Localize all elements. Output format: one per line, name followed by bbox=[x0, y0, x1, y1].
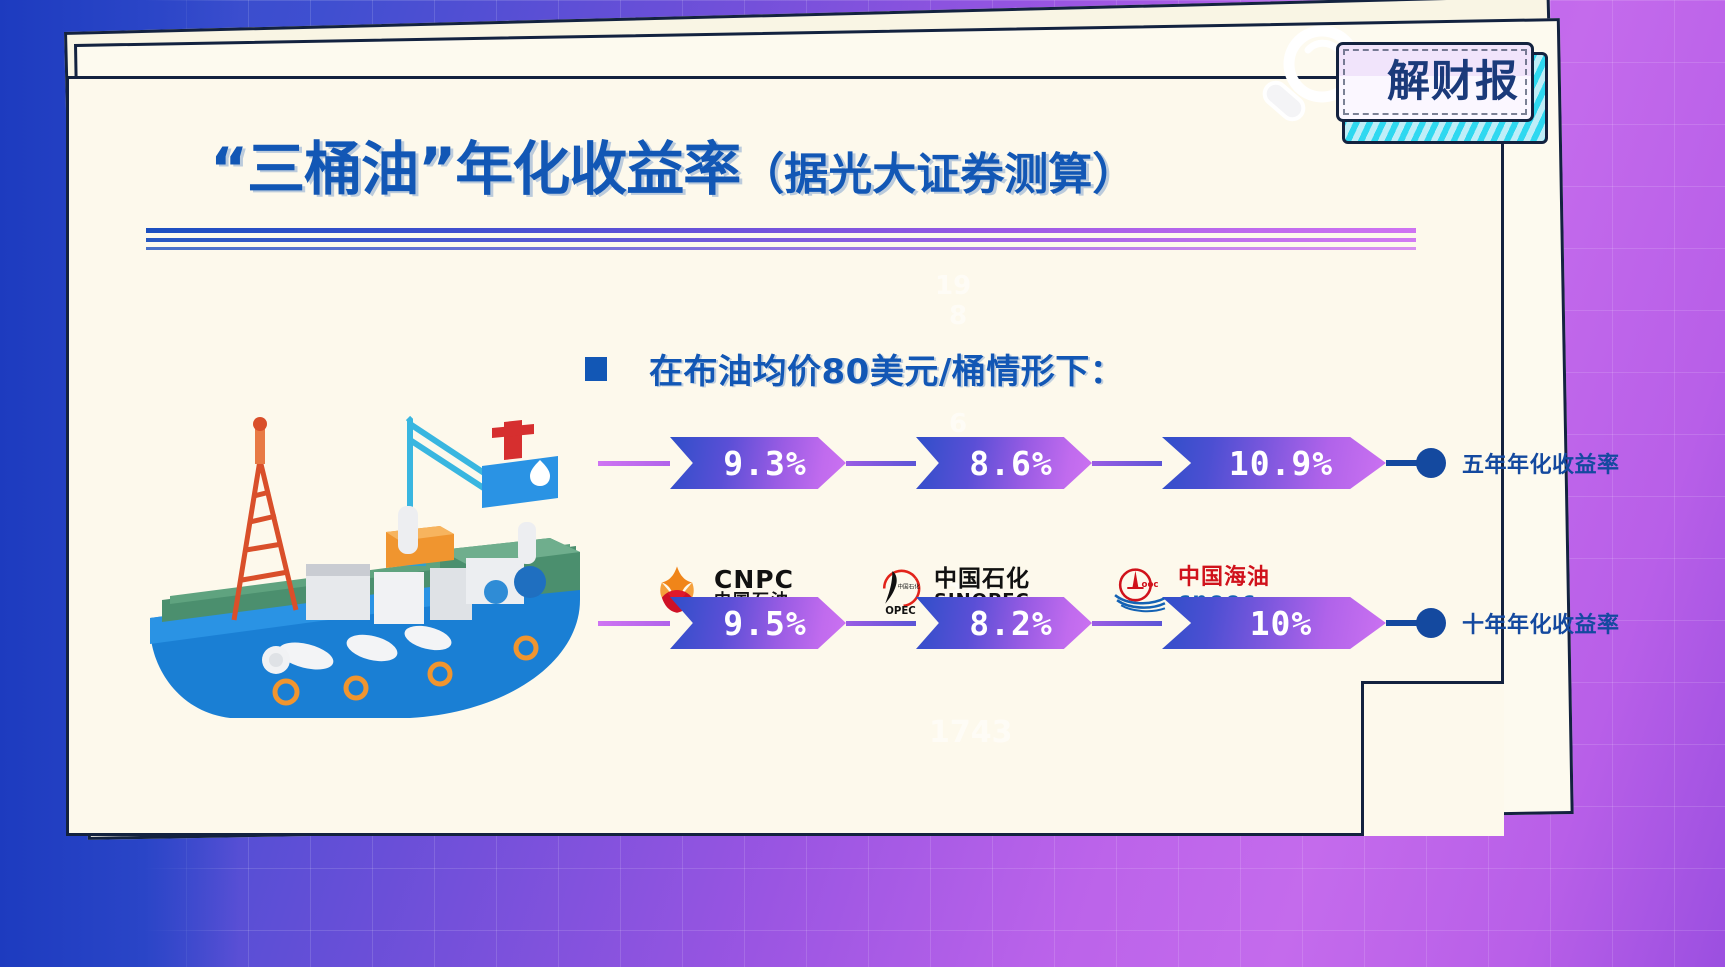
metric-row-five-year: 9.3% 8.6% 10.9% 五年年化收益率 bbox=[598, 437, 1620, 489]
arrow-tail bbox=[846, 461, 916, 466]
badge-label: 解财报 bbox=[1387, 61, 1519, 104]
card-fold-corner bbox=[1361, 681, 1504, 836]
endpoint-stem bbox=[1386, 620, 1420, 626]
watermark-number: 8 bbox=[949, 301, 967, 331]
arrow-cell-cnooc: 10% bbox=[1162, 597, 1386, 649]
arrow-tail bbox=[846, 621, 916, 626]
row-label-five-year: 五年年化收益率 bbox=[1462, 447, 1620, 479]
svg-text:中国石化: 中国石化 bbox=[897, 582, 920, 590]
channel-badge[interactable]: 解财报 bbox=[1336, 42, 1544, 134]
arrow-cell-sinopec: 8.6% bbox=[916, 437, 1092, 489]
watermark-number: 19 bbox=[935, 271, 971, 301]
divider-line-3 bbox=[146, 247, 1416, 250]
page-title: “三桶油”年化收益率（据光大证券测算） bbox=[210, 140, 1470, 198]
bullet-row: 在布油均价80美元/桶情形下： bbox=[585, 344, 1124, 393]
offshore-platform-illustration bbox=[110, 300, 610, 730]
watermark-number: 1743 bbox=[929, 715, 1013, 750]
arrow-cell-cnpc: 9.3% bbox=[670, 437, 846, 489]
row-label-ten-year: 十年年化收益率 bbox=[1462, 607, 1620, 639]
arrow-tail bbox=[1092, 621, 1162, 626]
logo-sinopec-line1: 中国石化 bbox=[934, 568, 1030, 592]
logo-cnpc-line1: CNPC bbox=[714, 567, 794, 593]
endpoint-dot-icon bbox=[1416, 608, 1446, 638]
divider-line-1 bbox=[146, 228, 1416, 233]
title-main: “三桶油”年化收益率 bbox=[210, 135, 740, 203]
arrow-cell-cnpc: 9.5% bbox=[670, 597, 846, 649]
infographic-canvas: 19 8 6 34 1743 “三桶油”年化收益率（据光大证券测算） 在布油均价… bbox=[0, 0, 1725, 967]
divider-line-2 bbox=[146, 238, 1416, 242]
badge-box[interactable]: 解财报 bbox=[1336, 42, 1534, 122]
arrow-cell-cnooc: 10.9% bbox=[1162, 437, 1386, 489]
endpoint-dot-icon bbox=[1416, 448, 1446, 478]
title-divider bbox=[146, 228, 1416, 255]
arrow-tail bbox=[1092, 461, 1162, 466]
endpoint-stem bbox=[1386, 460, 1420, 466]
title-sub: （据光大证券测算） bbox=[740, 149, 1136, 200]
bullet-text: 在布油均价80美元/桶情形下： bbox=[649, 344, 1124, 393]
metric-row-ten-year: 9.5% 8.2% 10% 十年年化收益率 bbox=[598, 597, 1620, 649]
svg-text:ooc: ooc bbox=[1142, 580, 1159, 590]
logo-cnooc-line1: 中国海油 bbox=[1178, 567, 1270, 590]
arrow-cell-sinopec: 8.2% bbox=[916, 597, 1092, 649]
watermark-number: 6 bbox=[949, 409, 967, 439]
